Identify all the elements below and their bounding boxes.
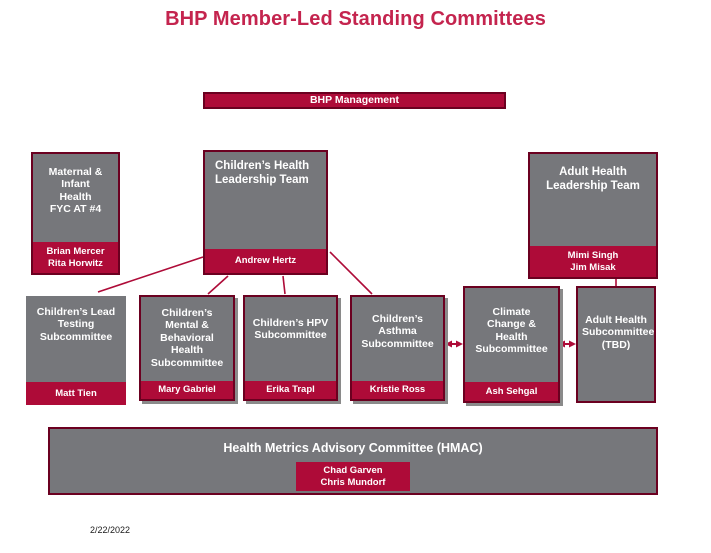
node-namebar: Andrew Hertz — [205, 249, 326, 273]
node-adult-health-leadership[interactable]: Adult HealthLeadership Team Mimi Singh J… — [528, 152, 658, 279]
node-childrens-hpv-subcommittee[interactable]: Children’s HPVSubcommittee Erika Trapl — [243, 295, 338, 401]
leader-name: Jim Misak — [570, 262, 615, 273]
connector-hertz-to-hpv — [283, 276, 285, 294]
node-childrens-health-leadership[interactable]: Children’s HealthLeadership Team Andrew … — [203, 150, 328, 275]
node-namebar: Kristie Ross — [352, 381, 443, 399]
node-title: Children’sAsthmaSubcommittee — [352, 297, 443, 350]
chair-name: Chris Mundorf — [321, 477, 386, 489]
chair-name: Ash Sehgal — [486, 386, 538, 397]
chair-name: Mary Gabriel — [158, 384, 216, 395]
node-title: Children’sMental &BehavioralHealthSubcom… — [141, 297, 233, 369]
connector-hertz-to-mental-behavioral — [208, 276, 228, 294]
node-climate-change-health-subcommittee[interactable]: ClimateChange &HealthSubcommittee Ash Se… — [463, 286, 560, 403]
node-namebar: Ash Sehgal — [465, 382, 558, 401]
node-title: Adult HealthLeadership Team — [530, 154, 656, 193]
node-title: Children’s LeadTestingSubcommittee — [26, 296, 126, 343]
arrow-asthma-climate — [445, 341, 463, 348]
node-childrens-asthma-subcommittee[interactable]: Children’sAsthmaSubcommittee Kristie Ros… — [350, 295, 445, 401]
chair-name: Matt Tien — [55, 388, 97, 399]
arrow-climate-adult — [558, 341, 576, 348]
node-title: ClimateChange &HealthSubcommittee — [465, 288, 558, 356]
node-namebar: Erika Trapl — [245, 381, 336, 399]
node-namebar: Matt Tien — [26, 382, 126, 405]
node-maternal-infant-health[interactable]: Maternal &InfantHealthFYC AT #4 Brian Me… — [31, 152, 120, 275]
leader-name: Brian Mercer — [46, 246, 104, 257]
node-namebar: Mimi Singh Jim Misak — [530, 246, 656, 277]
node-namebar: Brian Mercer Rita Horwitz — [33, 242, 118, 273]
leader-name: Rita Horwitz — [48, 258, 103, 269]
node-title: Adult HealthSubcommittee(TBD) — [578, 288, 654, 351]
chair-name: Erika Trapl — [266, 384, 315, 395]
node-adult-health-subcommittee[interactable]: Adult HealthSubcommittee(TBD) — [576, 286, 656, 403]
node-childrens-lead-testing-subcommittee[interactable]: Children’s LeadTestingSubcommittee Matt … — [26, 296, 126, 405]
node-childrens-mental-behavioral-health-subcommittee[interactable]: Children’sMental &BehavioralHealthSubcom… — [139, 295, 235, 401]
node-title: Children’s HPVSubcommittee — [245, 297, 336, 342]
node-title: Children’s HealthLeadership Team — [205, 152, 326, 187]
page-title: BHP Member-Led Standing Committees — [0, 8, 711, 31]
footer-date: 2/22/2022 — [90, 525, 130, 535]
node-namebar: Mary Gabriel — [141, 381, 233, 399]
node-title: Maternal &InfantHealthFYC AT #4 — [33, 154, 118, 216]
hmac-namebar: Chad Garven Chris Mundorf — [296, 462, 410, 491]
chair-name: Kristie Ross — [370, 384, 425, 395]
bhp-management-bar[interactable]: BHP Management — [203, 92, 506, 109]
leader-name: Mimi Singh — [568, 250, 619, 261]
node-title: Health Metrics Advisory Committee (HMAC) — [50, 429, 656, 455]
chair-name: Chad Garven — [323, 465, 382, 477]
leader-name: Andrew Hertz — [235, 255, 296, 266]
connector-hertz-to-asthma — [330, 252, 372, 294]
